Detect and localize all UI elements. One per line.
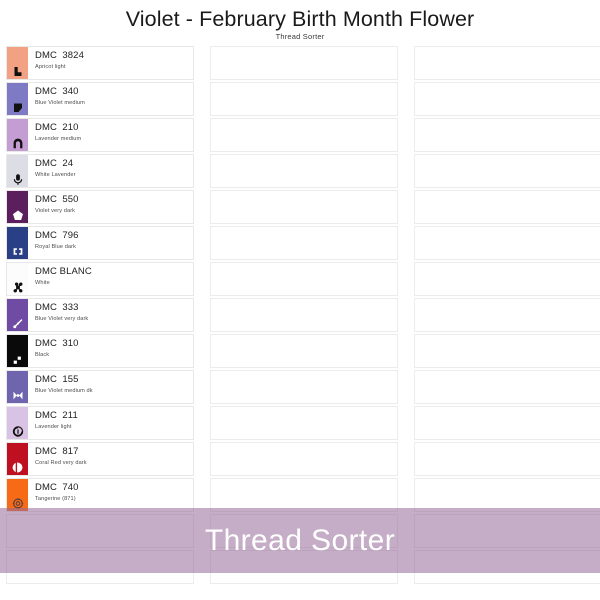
- table-row[interactable]: DMC 796Royal Blue dark: [6, 226, 194, 260]
- empty-slot-row[interactable]: [210, 370, 398, 404]
- thread-code: DMC 155: [35, 374, 193, 386]
- empty-slot-row[interactable]: [210, 262, 398, 296]
- thread-color-swatch: [7, 119, 28, 151]
- empty-slot-row[interactable]: [414, 370, 600, 404]
- page-title: Violet - February Birth Month Flower: [0, 0, 600, 32]
- thread-code: DMC 211: [35, 410, 193, 422]
- thread-info: DMC 211Lavender light: [28, 407, 193, 439]
- half-moon-icon: [11, 461, 24, 474]
- thread-info: DMC 155Blue Violet medium dk: [28, 371, 193, 403]
- spiral-circle-icon: [11, 425, 24, 438]
- empty-slot-row[interactable]: [414, 478, 600, 512]
- pentagon-icon: [11, 209, 24, 222]
- thread-color-name: White Lavender: [35, 171, 193, 180]
- empty-slot-row[interactable]: [414, 226, 600, 260]
- page-header: Violet - February Birth Month Flower Thr…: [0, 0, 600, 46]
- empty-slot-row[interactable]: [414, 82, 600, 116]
- thread-color-swatch: [7, 407, 28, 439]
- thread-color-swatch: [7, 335, 28, 367]
- thread-column-2: [210, 46, 398, 586]
- table-row[interactable]: DMC 24White Lavender: [6, 154, 194, 188]
- table-row[interactable]: DMC 3824Apricot light: [6, 46, 194, 80]
- thread-color-name: Blue Violet medium: [35, 99, 193, 108]
- thread-info: DMC 210Lavender medium: [28, 119, 193, 151]
- stair-squares-icon: [11, 353, 24, 366]
- thread-color-name: Tangerine (871): [35, 495, 193, 504]
- table-row[interactable]: DMC 155Blue Violet medium dk: [6, 370, 194, 404]
- thread-column-3: [414, 46, 600, 586]
- thread-color-swatch: [7, 479, 28, 511]
- thread-info: DMC 333Blue Violet very dark: [28, 299, 193, 331]
- empty-slot-row[interactable]: [414, 118, 600, 152]
- thread-code: DMC 310: [35, 338, 193, 350]
- empty-slot-row[interactable]: [414, 154, 600, 188]
- table-row[interactable]: DMC 740Tangerine (871): [6, 478, 194, 512]
- table-row[interactable]: DMC 550Violet very dark: [6, 190, 194, 224]
- empty-slot-row[interactable]: [210, 298, 398, 332]
- thread-color-swatch: [7, 227, 28, 259]
- thread-code: DMC 796: [35, 230, 193, 242]
- thread-color-name: White: [35, 279, 193, 288]
- empty-slot-row[interactable]: [210, 406, 398, 440]
- empty-slot-row[interactable]: [414, 190, 600, 224]
- thread-info: DMC 550Violet very dark: [28, 191, 193, 223]
- thread-color-name: Apricot light: [35, 63, 193, 72]
- empty-slot-row[interactable]: [414, 550, 600, 584]
- thread-code: DMC 817: [35, 446, 193, 458]
- empty-slot-row[interactable]: [414, 262, 600, 296]
- diagonal-dots-icon: [11, 317, 24, 330]
- thread-code: DMC 210: [35, 122, 193, 134]
- empty-slot-row[interactable]: [210, 226, 398, 260]
- empty-slot-row[interactable]: [414, 406, 600, 440]
- empty-slot-row[interactable]: [210, 550, 398, 584]
- thread-code: DMC 3824: [35, 50, 193, 62]
- gear-circle-icon: [11, 497, 24, 510]
- empty-slot-row[interactable]: [6, 514, 194, 548]
- thread-info: DMC 817Coral Red very dark: [28, 443, 193, 475]
- empty-slot-row[interactable]: [210, 46, 398, 80]
- thread-color-name: Black: [35, 351, 193, 360]
- table-row[interactable]: DMC 211Lavender light: [6, 406, 194, 440]
- thread-sorter-page: Violet - February Birth Month Flower Thr…: [0, 0, 600, 600]
- thread-color-swatch: [7, 83, 28, 115]
- empty-slot-row[interactable]: [210, 334, 398, 368]
- page-subtitle: Thread Sorter: [0, 32, 600, 42]
- thread-code: DMC 333: [35, 302, 193, 314]
- bowtie-icon: [11, 389, 24, 402]
- thread-info: DMC BLANCWhite: [28, 263, 193, 295]
- thread-code: DMC 24: [35, 158, 193, 170]
- thread-color-name: Blue Violet very dark: [35, 315, 193, 324]
- bracket-pair-icon: [11, 245, 24, 258]
- empty-slot-row[interactable]: [210, 190, 398, 224]
- thread-info: DMC 24White Lavender: [28, 155, 193, 187]
- thread-code: DMC 740: [35, 482, 193, 494]
- empty-slot-row[interactable]: [414, 514, 600, 548]
- thread-info: DMC 3824Apricot light: [28, 47, 193, 79]
- empty-slot-row[interactable]: [210, 442, 398, 476]
- flag-corner-icon: [11, 101, 24, 114]
- thread-color-name: Lavender light: [35, 423, 193, 432]
- empty-slot-row[interactable]: [210, 118, 398, 152]
- thread-code: DMC BLANC: [35, 266, 193, 278]
- empty-slot-row[interactable]: [414, 334, 600, 368]
- empty-slot-row[interactable]: [210, 82, 398, 116]
- empty-slot-row[interactable]: [210, 478, 398, 512]
- thread-color-swatch: [7, 443, 28, 475]
- thread-color-name: Coral Red very dark: [35, 459, 193, 468]
- table-row[interactable]: DMC 340Blue Violet medium: [6, 82, 194, 116]
- thread-color-swatch: [7, 47, 28, 79]
- empty-slot-row[interactable]: [210, 514, 398, 548]
- thread-info: DMC 796Royal Blue dark: [28, 227, 193, 259]
- thread-color-name: Royal Blue dark: [35, 243, 193, 252]
- arch-icon: [11, 137, 24, 150]
- clover-cross-icon: [11, 281, 24, 294]
- thread-color-name: Blue Violet medium dk: [35, 387, 193, 396]
- empty-slot-row[interactable]: [6, 550, 194, 584]
- thread-color-swatch: [7, 191, 28, 223]
- thread-info: DMC 340Blue Violet medium: [28, 83, 193, 115]
- thread-column-1: DMC 3824Apricot lightDMC 340Blue Violet …: [6, 46, 194, 586]
- table-row[interactable]: DMC 210Lavender medium: [6, 118, 194, 152]
- empty-slot-row[interactable]: [414, 298, 600, 332]
- table-row[interactable]: DMC 310Black: [6, 334, 194, 368]
- microphone-icon: [11, 173, 24, 186]
- table-row[interactable]: DMC BLANCWhite: [6, 262, 194, 296]
- empty-slot-row[interactable]: [414, 46, 600, 80]
- corner-block-icon: [11, 65, 24, 78]
- thread-info: DMC 310Black: [28, 335, 193, 367]
- empty-slot-row[interactable]: [414, 442, 600, 476]
- thread-code: DMC 550: [35, 194, 193, 206]
- thread-color-swatch: [7, 371, 28, 403]
- empty-slot-row[interactable]: [210, 154, 398, 188]
- thread-color-name: Lavender medium: [35, 135, 193, 144]
- thread-color-swatch: [7, 263, 28, 295]
- thread-info: DMC 740Tangerine (871): [28, 479, 193, 511]
- thread-columns: DMC 3824Apricot lightDMC 340Blue Violet …: [0, 46, 600, 600]
- thread-code: DMC 340: [35, 86, 193, 98]
- thread-color-name: Violet very dark: [35, 207, 193, 216]
- table-row[interactable]: DMC 817Coral Red very dark: [6, 442, 194, 476]
- thread-color-swatch: [7, 155, 28, 187]
- thread-color-swatch: [7, 299, 28, 331]
- table-row[interactable]: DMC 333Blue Violet very dark: [6, 298, 194, 332]
